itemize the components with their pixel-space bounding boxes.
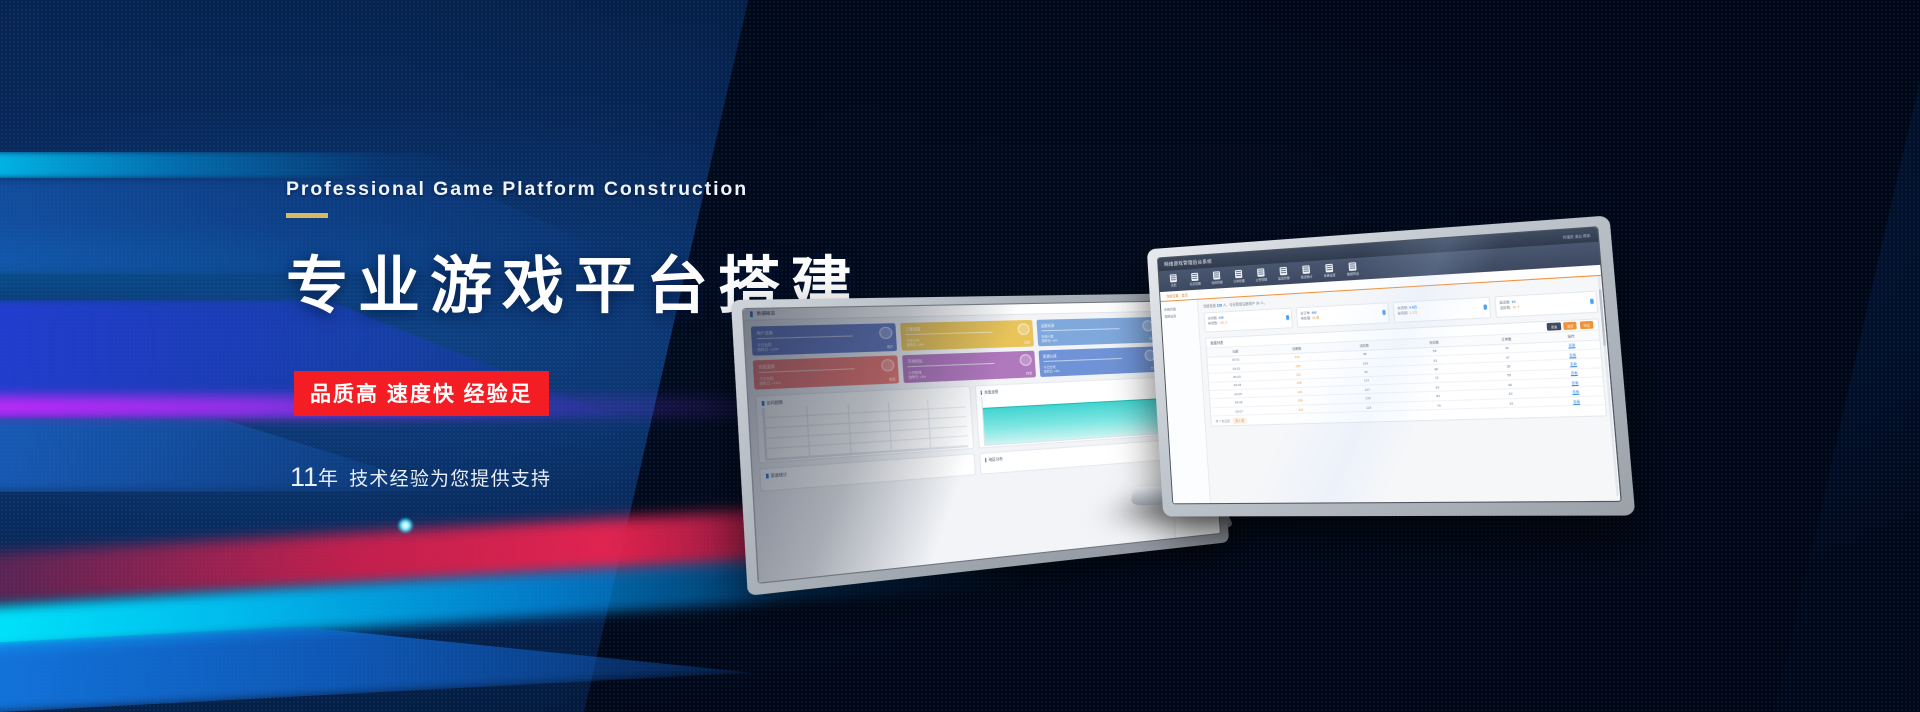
home-icon xyxy=(1170,274,1177,282)
panel-title: 渠道统计 xyxy=(770,471,787,478)
note-suffix: 人，今日新增注册用户 36 人。 xyxy=(1223,301,1267,308)
line-chart-panel: 访问趋势 xyxy=(755,386,974,464)
titlebar-meta[interactable]: 管理员 退出 帮助 xyxy=(1562,232,1590,239)
panel-header: 地区分布 xyxy=(984,444,1160,462)
channel-icon xyxy=(1279,266,1287,275)
stat-card-label: 用户 xyxy=(887,344,894,349)
admin-main: 系统管理 权限设置 当前在线 128 人，今日新增注册用户 36 人。 xyxy=(1161,276,1621,504)
summary-card[interactable]: 充值额: 9.8万 提现额: 2.1万 xyxy=(1393,297,1492,323)
summary-value: 2.1万 xyxy=(1409,310,1417,315)
notice-icon xyxy=(1257,268,1265,277)
years-number: 11 xyxy=(290,462,318,492)
add-button[interactable]: 新增 xyxy=(1563,322,1577,330)
summary-card[interactable]: 总订单: 452 待处理: 18 单 xyxy=(1296,302,1390,328)
summary-key: 总订单: xyxy=(1300,310,1311,315)
query-button[interactable]: 查询 xyxy=(1547,323,1561,331)
admin-content: 当前在线 128 人，今日新增注册用户 36 人。 在线数: 128 新增数: … xyxy=(1198,276,1621,504)
toolbar-label: 充值管理 xyxy=(1208,280,1225,285)
stat-card-title: 渠道分成 xyxy=(1043,354,1057,359)
panel-title: 地区分布 xyxy=(988,456,1003,462)
stat-card[interactable]: 充值金额 今日充值 较昨日 +21% 充值 xyxy=(753,355,900,389)
gold-rule-divider xyxy=(286,213,328,218)
front-laptop: 网络游戏管理后台系统 管理员 退出 帮助 首页 玩家管理 充值管理 订单管理 公… xyxy=(1155,248,1585,516)
stat-card[interactable]: 订单总量 今日订单 较昨日 +8% 订单 xyxy=(900,320,1033,351)
user-icon xyxy=(1191,272,1198,280)
stat-card[interactable]: 渠道分成 今日分成 较昨日 +9% 分成 xyxy=(1038,346,1159,377)
panel-header: 渠道统计 xyxy=(766,458,969,478)
promo-banner: Professional Game Platform Construction … xyxy=(0,0,1920,712)
summary-key: 渠道数: xyxy=(1499,299,1511,304)
coin-icon xyxy=(1213,271,1220,279)
toolbar-button-report[interactable]: 报表统计 xyxy=(1297,265,1316,280)
gear-icon xyxy=(1325,263,1333,272)
pin-icon xyxy=(1589,299,1593,305)
toolbar-label: 渠道管理 xyxy=(1275,276,1293,281)
summary-value: 128 xyxy=(1218,315,1223,319)
area-chart-plot xyxy=(980,388,1159,446)
panel-title: 访问趋势 xyxy=(766,399,783,406)
page-indicator[interactable]: 第 1 页 xyxy=(1233,417,1247,423)
note-prefix: 当前在线 xyxy=(1203,304,1216,309)
stat-card[interactable]: 平均时长 人均在线 较昨日 +3% 时长 xyxy=(902,351,1035,383)
pin-icon xyxy=(1382,310,1386,315)
pin-icon xyxy=(1285,315,1288,320)
summary-key: 在线数: xyxy=(1208,315,1218,320)
dashboard-body: 用户总数 今日新增 较昨日 +12% 用户 订单总量 xyxy=(744,311,1215,499)
divider xyxy=(1041,329,1120,332)
front-laptop-screen: 网络游戏管理后台系统 管理员 退出 帮助 首页 玩家管理 充值管理 订单管理 公… xyxy=(1157,226,1622,504)
summary-key: 提现额: xyxy=(1398,310,1409,315)
summary-value: 18 单 xyxy=(1312,315,1320,320)
table-buttons: 查询 新增 导出 xyxy=(1547,321,1593,330)
toolbar-button-notice[interactable]: 公告管理 xyxy=(1252,268,1270,283)
summary-value: 24 xyxy=(1511,299,1515,304)
area-series-line xyxy=(982,398,1156,409)
summary-card[interactable]: 渠道数: 24 活跃数: 19 个 xyxy=(1494,291,1598,318)
user-icon xyxy=(879,327,893,340)
stat-card-label: 订单 xyxy=(1024,340,1030,344)
summary-key: 活跃数: xyxy=(1500,305,1512,310)
header-accent-bar xyxy=(750,311,753,317)
toolbar-button-recharge[interactable]: 充值管理 xyxy=(1208,271,1226,286)
panel-accent-bar xyxy=(766,473,768,478)
stat-card-title: 活跃玩家 xyxy=(1041,324,1055,329)
stat-card-label: 时长 xyxy=(1026,371,1032,376)
dashboard-title: 数据概览 xyxy=(756,311,775,317)
area-series-fill xyxy=(982,398,1159,445)
line-chart-plot xyxy=(762,398,968,461)
divider xyxy=(906,332,993,335)
panel-accent-bar xyxy=(980,390,982,394)
stat-card-title: 充值金额 xyxy=(758,364,775,369)
experience-tail: 技术经验为您提供支持 xyxy=(349,469,551,490)
data-table-panel: 数据列表 查询 新增 导出 xyxy=(1205,318,1607,427)
order-icon xyxy=(1017,323,1030,335)
summary-value: +36 人 xyxy=(1219,320,1228,325)
glow-dot xyxy=(398,518,413,533)
stat-card-label: 充值 xyxy=(889,377,896,382)
toolbar-label: 报表统计 xyxy=(1298,274,1316,279)
panel-accent-bar xyxy=(762,400,764,405)
summary-key: 新增数: xyxy=(1208,321,1218,326)
years-unit: 年 xyxy=(318,468,339,490)
summary-value: 9.8万 xyxy=(1409,304,1417,309)
toolbar-label: 公告管理 xyxy=(1253,277,1271,282)
app-title: 网络游戏管理后台系统 xyxy=(1164,258,1212,267)
toolbar-button-channel[interactable]: 渠道管理 xyxy=(1274,266,1292,281)
stat-card[interactable]: 活跃玩家 在线人数 较昨日 +5% 活跃 xyxy=(1036,317,1157,346)
summary-value: 452 xyxy=(1311,310,1317,314)
summary-value: 19 个 xyxy=(1512,304,1521,309)
back-laptop-screen: 数据概览 通知 公告 消息 提醒 xyxy=(742,300,1221,584)
front-laptop-lid: 网络游戏管理后台系统 管理员 退出 帮助 首页 玩家管理 充值管理 订单管理 公… xyxy=(1147,215,1636,516)
area-chart-panel: 充值走势 xyxy=(974,377,1164,449)
panel-accent-bar xyxy=(984,457,986,461)
sidebar-item-permissions[interactable]: 权限设置 xyxy=(1164,311,1195,320)
table-caption: 数据列表 xyxy=(1210,340,1223,346)
toolbar-button-home[interactable]: 首页 xyxy=(1165,273,1182,288)
toolbar-label: 玩家管理 xyxy=(1187,282,1204,287)
eyebrow-text: Professional Game Platform Construction xyxy=(286,178,926,201)
note-value: 128 xyxy=(1217,303,1223,307)
toolbar-label: 首页 xyxy=(1165,283,1182,288)
features-badge: 品质高 速度快 经验足 xyxy=(294,371,549,416)
toolbar-button-settings[interactable]: 系统设置 xyxy=(1320,263,1339,278)
summary-key: 充值额: xyxy=(1397,305,1408,310)
chart-icon xyxy=(1302,265,1310,274)
export-icon xyxy=(1348,262,1356,271)
toolbar-label: 订单管理 xyxy=(1230,279,1247,284)
admin-app: 网络游戏管理后台系统 管理员 退出 帮助 首页 玩家管理 充值管理 订单管理 公… xyxy=(1158,227,1621,503)
toolbar-label: 系统设置 xyxy=(1321,273,1339,278)
toolbar-button-orders[interactable]: 订单管理 xyxy=(1230,269,1248,284)
toolbar-label: 数据导出 xyxy=(1344,272,1362,277)
export-button[interactable]: 导出 xyxy=(1580,321,1594,329)
summary-key: 待处理: xyxy=(1301,316,1312,321)
panel-title: 充值走势 xyxy=(984,389,999,395)
order-icon xyxy=(1235,269,1243,278)
dashboard-app: 数据概览 通知 公告 消息 提醒 xyxy=(743,301,1220,583)
summary-card[interactable]: 在线数: 128 新增数: +36 人 xyxy=(1204,308,1293,333)
toolbar-button-export[interactable]: 数据导出 xyxy=(1343,262,1362,277)
toolbar-button-players[interactable]: 玩家管理 xyxy=(1186,272,1204,287)
stat-card-title: 用户总数 xyxy=(756,331,773,336)
stat-card-title: 平均时长 xyxy=(907,359,922,364)
pin-icon xyxy=(1483,304,1487,310)
stat-card-title: 订单总量 xyxy=(905,327,920,332)
stat-card[interactable]: 用户总数 今日新增 较昨日 +12% 用户 xyxy=(751,323,898,356)
record-count: 共 7 条记录 xyxy=(1215,419,1230,423)
